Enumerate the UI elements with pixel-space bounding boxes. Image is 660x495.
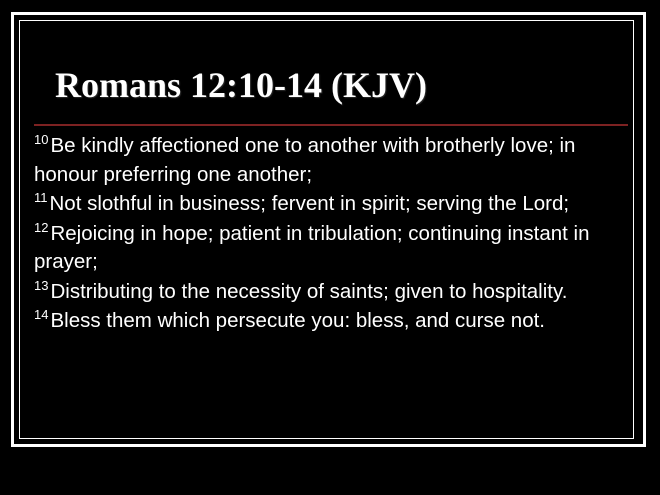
verse-text: Be kindly affectioned one to another wit… [34,134,575,186]
verse-item: 12Rejoicing in hope; patient in tribulat… [34,220,624,277]
slide-content: Romans 12:10-14 (KJV) 10Be kindly affect… [20,21,633,438]
verse-item: 13Distributing to the necessity of saint… [34,278,624,307]
verse-list: 10Be kindly affectioned one to another w… [34,132,624,337]
verse-number: 11 [34,190,50,205]
verse-text: Rejoicing in hope; patient in tribulatio… [34,222,590,274]
title-divider-rule [34,124,628,126]
verse-text: Bless them which persecute you: bless, a… [50,309,545,332]
presentation-slide: Romans 12:10-14 (KJV) 10Be kindly affect… [0,0,660,495]
verse-number: 10 [34,132,50,147]
verse-number: 13 [34,278,50,293]
verse-text: Not slothful in business; fervent in spi… [50,192,570,215]
verse-text: Distributing to the necessity of saints;… [50,280,567,303]
verse-item: 10Be kindly affectioned one to another w… [34,132,624,189]
verse-item: 14Bless them which persecute you: bless,… [34,307,624,336]
verse-number: 14 [34,307,50,322]
verse-item: 11Not slothful in business; fervent in s… [34,190,624,219]
verse-number: 12 [34,220,50,235]
page-title: Romans 12:10-14 (KJV) [55,64,427,106]
